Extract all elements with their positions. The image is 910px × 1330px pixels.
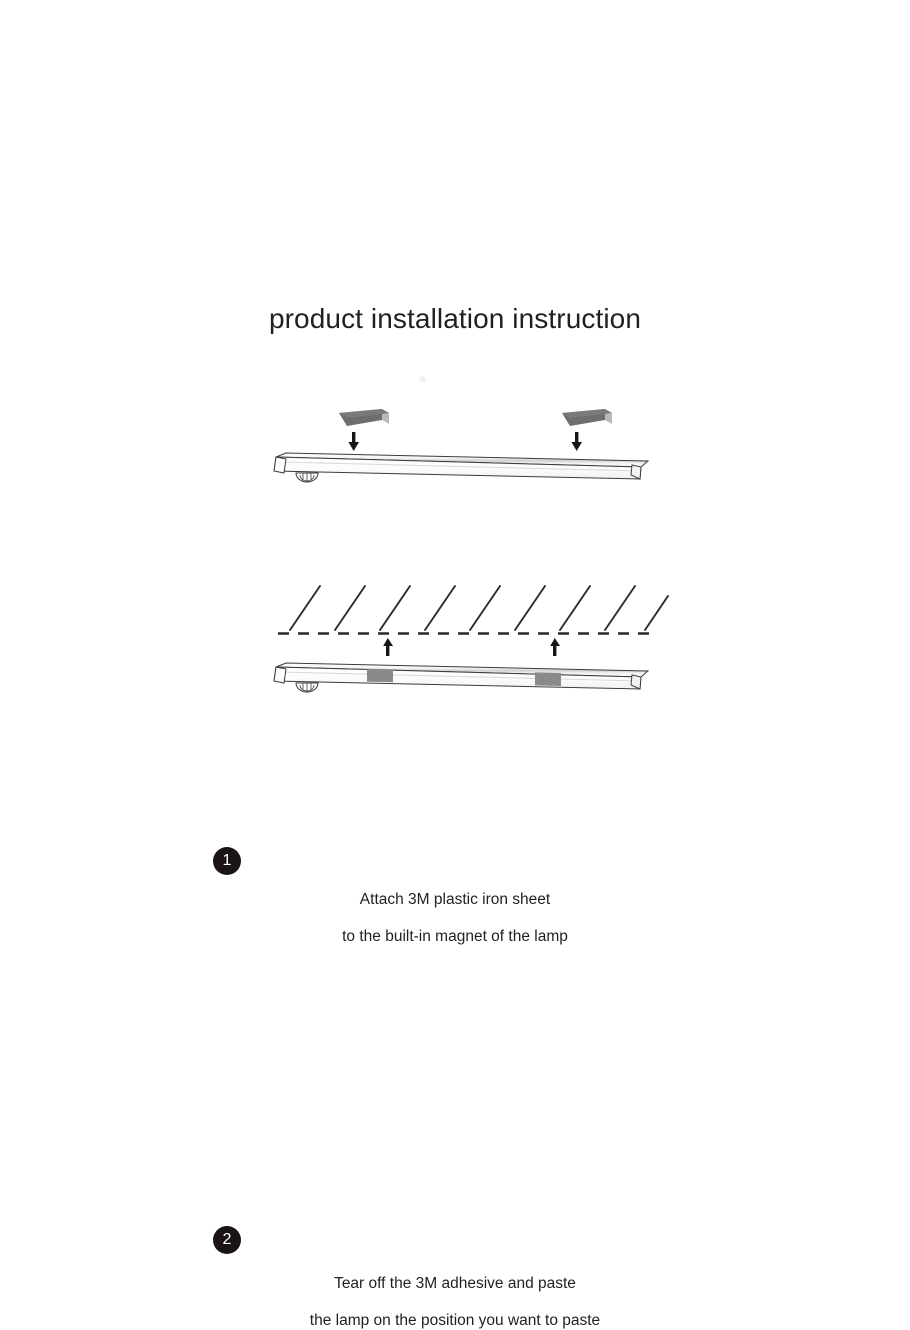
iron-sheet-left: [339, 409, 389, 426]
arrow-down-icon-right: [571, 432, 582, 451]
arrow-down-icon-left: [348, 432, 359, 451]
adhesive-pad-left: [367, 669, 393, 683]
adhesive-pad-right: [535, 672, 561, 686]
step-2-badge: 2: [213, 1226, 241, 1254]
step-1-caption-line-1: Attach 3M plastic iron sheet: [0, 891, 910, 909]
installation-instruction-page: product installation instruction: [0, 0, 910, 1080]
image-artifact-speck: [419, 376, 426, 383]
step-1-illustration: [0, 395, 910, 570]
step-1-badge: 1: [213, 847, 241, 875]
hatched-surface-icon: [290, 586, 668, 630]
led-bar-lamp-step2: [274, 663, 648, 692]
step-2-caption-line-2: the lamp on the position you want to pas…: [0, 1312, 910, 1330]
step-1-caption-line-2: to the built-in magnet of the lamp: [0, 928, 910, 946]
arrow-up-icon-left: [383, 638, 393, 656]
led-bar-lamp-step1: [274, 453, 648, 482]
arrow-up-icon-right: [550, 638, 560, 656]
step-2-illustration: [0, 570, 910, 780]
vent-grille-icon-step1: [296, 473, 318, 482]
page-title: product installation instruction: [0, 303, 910, 335]
step-2-caption-line-1: Tear off the 3M adhesive and paste: [0, 1275, 910, 1293]
vent-grille-icon-step2: [296, 683, 318, 692]
iron-sheet-right: [562, 409, 612, 426]
